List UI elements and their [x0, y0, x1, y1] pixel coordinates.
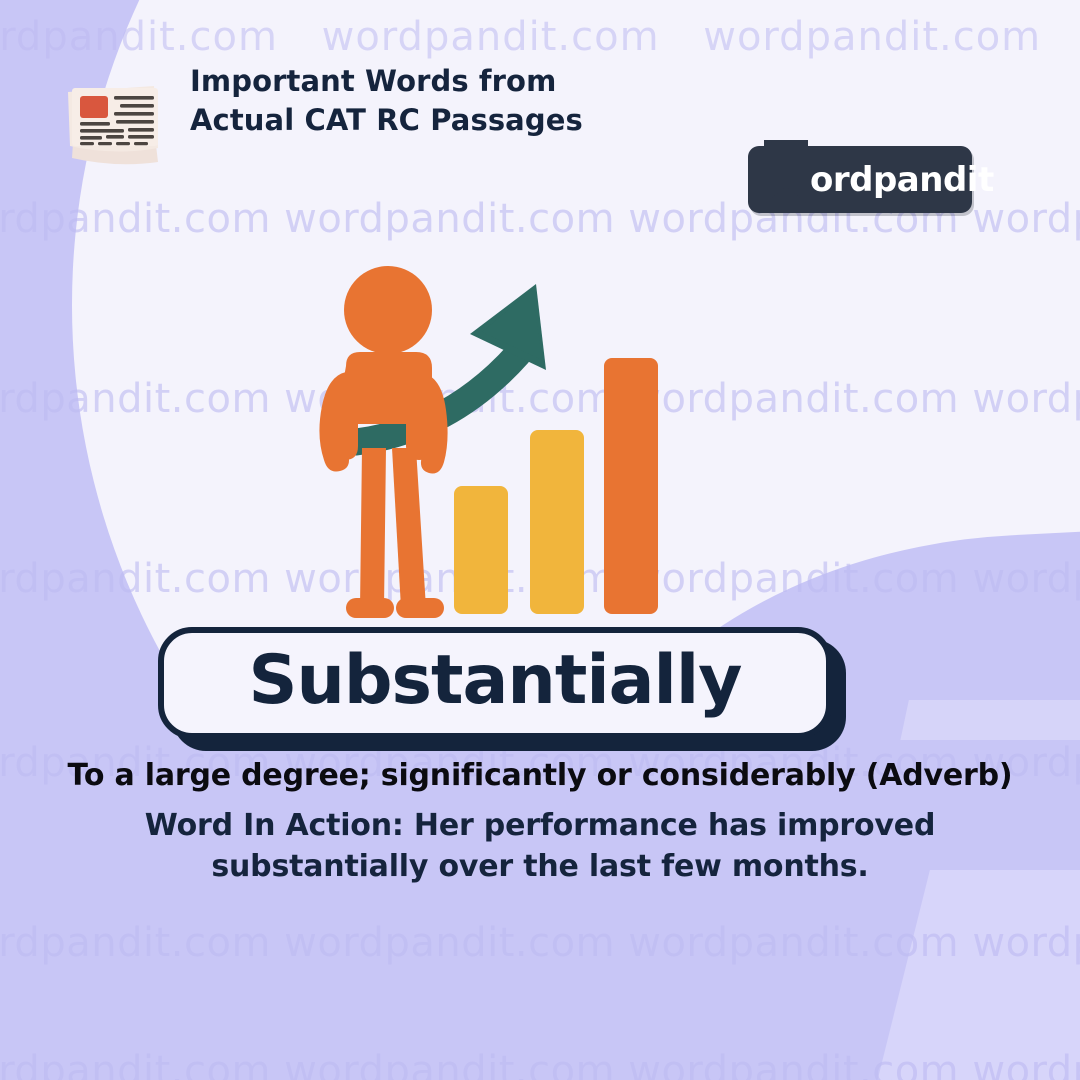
page-title-line1: Important Words from [190, 62, 583, 101]
wordpandit-logo[interactable]: ordpandit [748, 146, 972, 213]
word-in-action-line2: substantially over the last few months. [0, 847, 1080, 888]
header: Important Words from Actual CAT RC Passa… [0, 62, 1080, 182]
poster-canvas: wordpandit.com wordpandit.com wordpandit… [0, 0, 1080, 1080]
word-term: Substantially [249, 647, 742, 715]
logo-text: ordpandit [810, 160, 994, 200]
chart-bar-1 [454, 486, 508, 614]
growth-chart-person-illustration [300, 262, 700, 624]
chart-bar-3 [604, 358, 658, 614]
word-in-action-line1: Word In Action: Her performance has impr… [0, 806, 1080, 847]
word-definition: To a large degree; significantly or cons… [0, 758, 1080, 793]
bookmark-w-icon [758, 138, 814, 216]
page-title-line2: Actual CAT RC Passages [190, 101, 583, 140]
word-in-action: Word In Action: Her performance has impr… [0, 806, 1080, 888]
page-title: Important Words from Actual CAT RC Passa… [190, 62, 583, 140]
chart-bar-2 [530, 430, 584, 614]
newspaper-icon [58, 70, 176, 168]
word-card: Substantially [158, 627, 832, 739]
